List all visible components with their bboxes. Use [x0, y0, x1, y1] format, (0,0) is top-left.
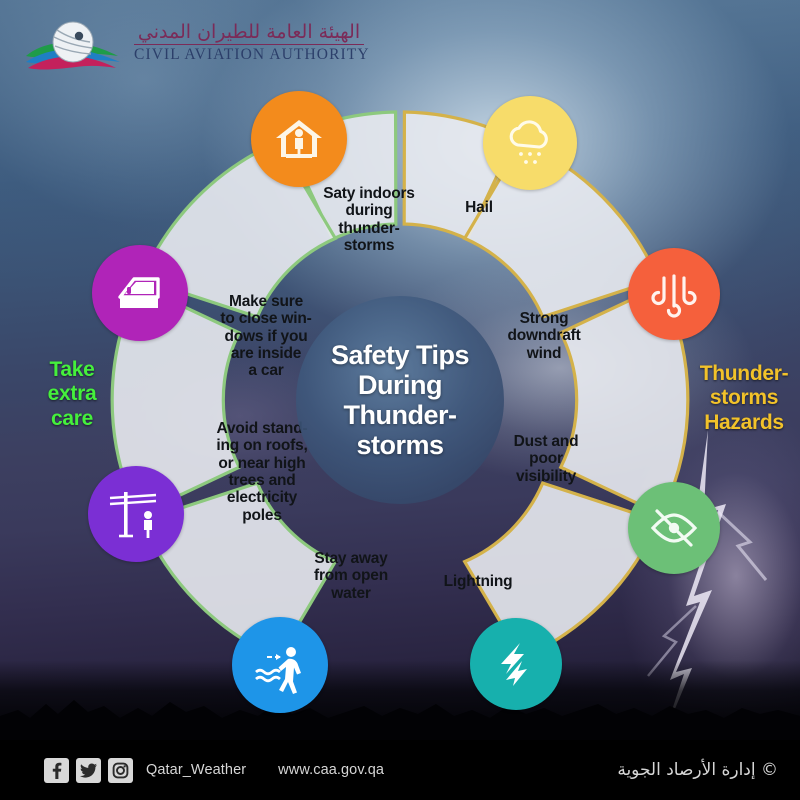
icon-badge-close-car-windows[interactable] — [92, 245, 188, 341]
house-person-icon — [272, 112, 326, 166]
logo-arabic-name: الهيئة العامة للطيران المدني — [134, 22, 364, 43]
twitter-icon[interactable] — [76, 758, 101, 783]
segment-label-lightning: Lightning — [395, 573, 561, 590]
caa-globe-logo — [24, 20, 122, 76]
cloud-hail-icon — [502, 115, 558, 171]
person-leaving-water-icon — [251, 636, 309, 694]
icon-badge-lightning[interactable] — [470, 618, 562, 710]
page-title: Safety Tips During Thunder- storms — [331, 340, 469, 461]
instagram-glyph — [112, 762, 129, 779]
logo-wordmark: الهيئة العامة للطيران المدني CIVIL AVIAT… — [134, 22, 364, 64]
social-links — [44, 758, 133, 783]
logo-english-name: CIVIL AVIATION AUTHORITY — [134, 46, 364, 64]
icon-badge-stay-indoors[interactable] — [251, 91, 347, 187]
social-handle[interactable]: Qatar_Weather — [146, 762, 246, 778]
eye-slash-icon — [648, 502, 700, 554]
caption-take-extra-care: Take extra care — [20, 358, 124, 431]
wheel-center: Safety Tips During Thunder- storms — [296, 296, 504, 504]
segment-label-hail: Hail — [400, 199, 558, 216]
twitter-glyph — [80, 763, 97, 778]
facebook-glyph — [49, 762, 64, 779]
caption-thunderstorm-hazards: Thunder- storms Hazards — [690, 362, 798, 435]
downdraft-wind-icon — [649, 269, 699, 319]
header: الهيئة العامة للطيران المدني CIVIL AVIAT… — [0, 0, 800, 92]
website-url[interactable]: www.caa.gov.qa — [278, 762, 384, 778]
icon-badge-stay-away-from-water[interactable] — [232, 617, 328, 713]
segment-label-stay-indoors: Saty indoors during thunder- storms — [279, 185, 459, 254]
power-pole-person-icon — [107, 485, 165, 543]
facebook-icon[interactable] — [44, 758, 69, 783]
icon-badge-hail[interactable] — [483, 96, 577, 190]
instagram-icon[interactable] — [108, 758, 133, 783]
lightning-bolt-icon — [492, 640, 540, 688]
infographic-canvas: الهيئة العامة للطيران المدني CIVIL AVIAT… — [0, 0, 800, 800]
icon-badge-avoid-high-places[interactable] — [88, 466, 184, 562]
icon-badge-dust-poor-visibility[interactable] — [628, 482, 720, 574]
arabic-credit: © إدارة الأرصاد الجوية — [617, 760, 778, 780]
car-window-icon — [114, 267, 166, 319]
icon-badge-strong-downdraft-wind[interactable] — [628, 248, 720, 340]
logo-divider — [134, 44, 364, 46]
footer: Qatar_Weather www.caa.gov.qa © إدارة الأ… — [0, 740, 800, 800]
